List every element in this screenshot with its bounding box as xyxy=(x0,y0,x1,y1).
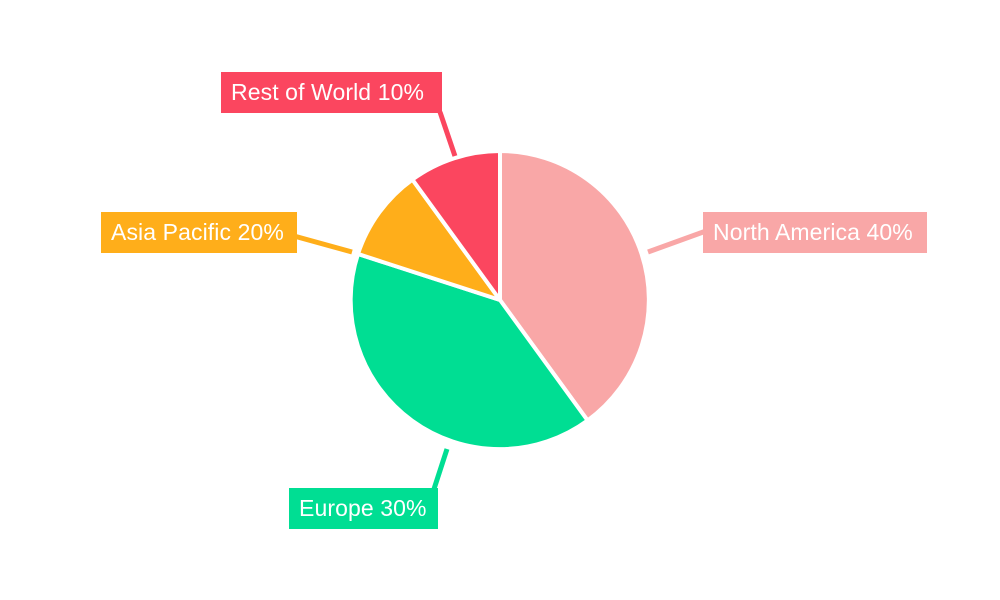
pie-chart-canvas xyxy=(0,0,1000,600)
leader-line-north-america xyxy=(648,231,706,252)
slice-label-north-america-text: North America 40% xyxy=(713,221,913,244)
slice-label-rest-of-world-text: Rest of World 10% xyxy=(231,81,424,104)
slice-label-europe-text: Europe 30% xyxy=(299,497,427,520)
leader-line-europe xyxy=(434,449,447,489)
slice-label-asia-pacific: Asia Pacific 20% xyxy=(101,212,297,253)
slice-label-north-america: North America 40% xyxy=(703,212,927,253)
slice-label-rest-of-world: Rest of World 10% xyxy=(221,72,442,113)
slice-label-europe: Europe 30% xyxy=(289,488,438,529)
slice-label-asia-pacific-text: Asia Pacific 20% xyxy=(111,221,284,244)
leader-line-asia-pacific xyxy=(294,236,352,252)
pie-chart: North America 40% Europe 30% Asia Pacifi… xyxy=(0,0,1000,600)
pie-slices xyxy=(351,151,649,449)
